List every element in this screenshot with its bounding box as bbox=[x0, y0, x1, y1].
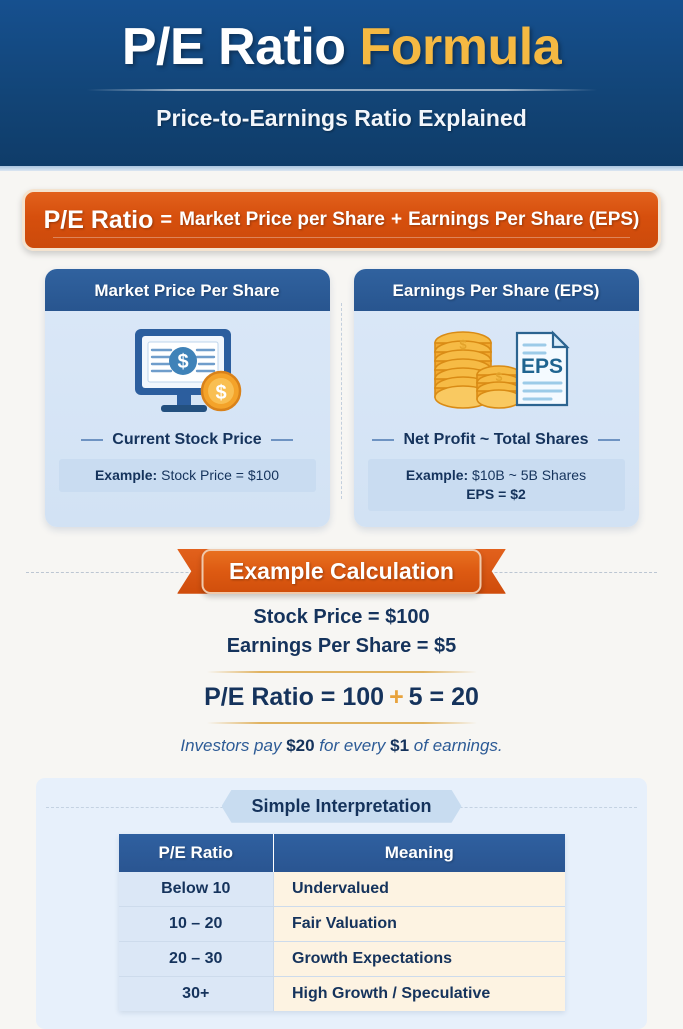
table-header-row: P/E Ratio Meaning bbox=[119, 834, 565, 872]
calc-note-pre: Investors pay bbox=[180, 736, 286, 755]
table-row: 10 – 20 Fair Valuation bbox=[119, 906, 565, 941]
example-ribbon: Example Calculation bbox=[177, 549, 506, 594]
page-subtitle: Price-to-Earnings Ratio Explained bbox=[0, 105, 683, 132]
formula-section: P/E Ratio = Market Price per Share + Ear… bbox=[0, 171, 683, 251]
dash-right-icon bbox=[598, 439, 620, 441]
calc-note-mid: for every bbox=[315, 736, 391, 755]
interpretation-section: Simple Interpretation P/E Ratio Meaning … bbox=[36, 778, 647, 1029]
table-cell-meaning: Growth Expectations bbox=[274, 941, 565, 976]
card-market-price-header: Market Price Per Share bbox=[45, 269, 330, 311]
calc-line-eps: Earnings Per Share = $5 bbox=[0, 632, 683, 661]
calc-result-lead: P/E Ratio = 100 bbox=[204, 683, 384, 711]
table-header-meaning: Meaning bbox=[274, 834, 565, 872]
card-eps-subtitle: Net Profit ~ Total Shares bbox=[403, 431, 588, 449]
example-calculation: Stock Price = $100 Earnings Per Share = … bbox=[0, 597, 683, 756]
svg-text:EPS: EPS bbox=[521, 355, 563, 378]
card-eps-example-line2: EPS = $2 bbox=[466, 486, 526, 502]
calc-line-stock-price: Stock Price = $100 bbox=[0, 603, 683, 632]
dash-left-icon bbox=[372, 439, 394, 441]
formula-underline bbox=[53, 237, 630, 238]
card-eps-header: Earnings Per Share (EPS) bbox=[354, 269, 639, 311]
page-header: P/E Ratio Formula Price-to-Earnings Rati… bbox=[0, 0, 683, 166]
interpretation-table: P/E Ratio Meaning Below 10 Undervalued 1… bbox=[119, 834, 565, 1011]
card-market-price-subtitle-row: Current Stock Price bbox=[59, 431, 316, 449]
card-market-price-subtitle: Current Stock Price bbox=[112, 431, 261, 449]
card-eps-title: Earnings Per Share (EPS) bbox=[393, 281, 600, 300]
interpretation-ribbon-label: Simple Interpretation bbox=[221, 790, 461, 823]
formula-operator: + bbox=[391, 209, 402, 231]
card-market-price-example: Example: Stock Price = $100 bbox=[59, 459, 316, 492]
card-market-price-example-value: Stock Price = $100 bbox=[161, 467, 279, 483]
card-market-price-body: $ $ Current Stock Price Example: Stock P… bbox=[45, 311, 330, 508]
interpretation-ribbon-row: Simple Interpretation bbox=[36, 790, 647, 824]
formula-numerator: Market Price per Share bbox=[179, 209, 385, 231]
calc-result-operator: + bbox=[389, 683, 404, 711]
card-eps-example-label: Example: bbox=[406, 467, 468, 483]
table-cell-ratio: Below 10 bbox=[119, 872, 274, 907]
calc-divider-bottom bbox=[207, 722, 477, 724]
table-row: 30+ High Growth / Speculative bbox=[119, 976, 565, 1011]
page-title-accent: Formula bbox=[360, 18, 562, 76]
card-eps-subtitle-row: Net Profit ~ Total Shares bbox=[368, 431, 625, 449]
example-ribbon-label: Example Calculation bbox=[201, 549, 482, 594]
svg-text:$: $ bbox=[215, 382, 226, 404]
card-notch-icon bbox=[174, 269, 200, 270]
card-market-price: Market Price Per Share bbox=[45, 269, 330, 527]
table-cell-meaning: High Growth / Speculative bbox=[274, 976, 565, 1011]
card-eps: Earnings Per Share (EPS) bbox=[354, 269, 639, 527]
table-cell-ratio: 10 – 20 bbox=[119, 906, 274, 941]
monitor-dollar-icon: $ $ bbox=[59, 323, 316, 423]
example-ribbon-section: Example Calculation bbox=[0, 549, 683, 597]
coins-document-icon: $ $ bbox=[368, 323, 625, 423]
page-title-main: P/E Ratio bbox=[122, 18, 346, 76]
table-cell-ratio: 30+ bbox=[119, 976, 274, 1011]
svg-text:$: $ bbox=[496, 370, 503, 384]
svg-text:$: $ bbox=[177, 351, 188, 373]
formula-equals: = bbox=[160, 209, 172, 232]
formula-lead: P/E Ratio bbox=[44, 206, 154, 235]
table-cell-ratio: 20 – 30 bbox=[119, 941, 274, 976]
calc-divider-top bbox=[207, 671, 477, 673]
calc-result: P/E Ratio = 100+5 = 20 bbox=[0, 683, 683, 712]
card-eps-body: $ $ bbox=[354, 311, 639, 527]
calc-result-tail: 5 = 20 bbox=[409, 683, 479, 711]
card-eps-example-value: $10B ~ 5B Shares bbox=[472, 467, 586, 483]
calc-note: Investors pay $20 for every $1 of earnin… bbox=[0, 736, 683, 756]
calc-note-post: of earnings. bbox=[409, 736, 503, 755]
table-cell-meaning: Undervalued bbox=[274, 872, 565, 907]
svg-text:$: $ bbox=[459, 337, 467, 352]
formula-banner: P/E Ratio = Market Price per Share + Ear… bbox=[22, 189, 661, 251]
table-row: 20 – 30 Growth Expectations bbox=[119, 941, 565, 976]
dash-right-icon bbox=[271, 439, 293, 441]
component-cards: Market Price Per Share bbox=[0, 251, 683, 527]
formula-denominator: Earnings Per Share (EPS) bbox=[408, 209, 639, 231]
table-cell-meaning: Fair Valuation bbox=[274, 906, 565, 941]
calc-note-unit: $1 bbox=[390, 736, 409, 755]
table-row: Below 10 Undervalued bbox=[119, 872, 565, 907]
card-market-price-title: Market Price Per Share bbox=[94, 281, 279, 300]
card-notch-icon bbox=[483, 269, 509, 270]
card-market-price-example-label: Example: bbox=[95, 467, 157, 483]
calc-note-amount: $20 bbox=[286, 736, 314, 755]
cards-vertical-divider bbox=[341, 303, 342, 499]
header-divider bbox=[87, 89, 597, 91]
card-eps-example: Example: $10B ~ 5B Shares EPS = $2 bbox=[368, 459, 625, 511]
table-header-ratio: P/E Ratio bbox=[119, 834, 274, 872]
dash-left-icon bbox=[81, 439, 103, 441]
page-title: P/E Ratio Formula bbox=[0, 20, 683, 75]
